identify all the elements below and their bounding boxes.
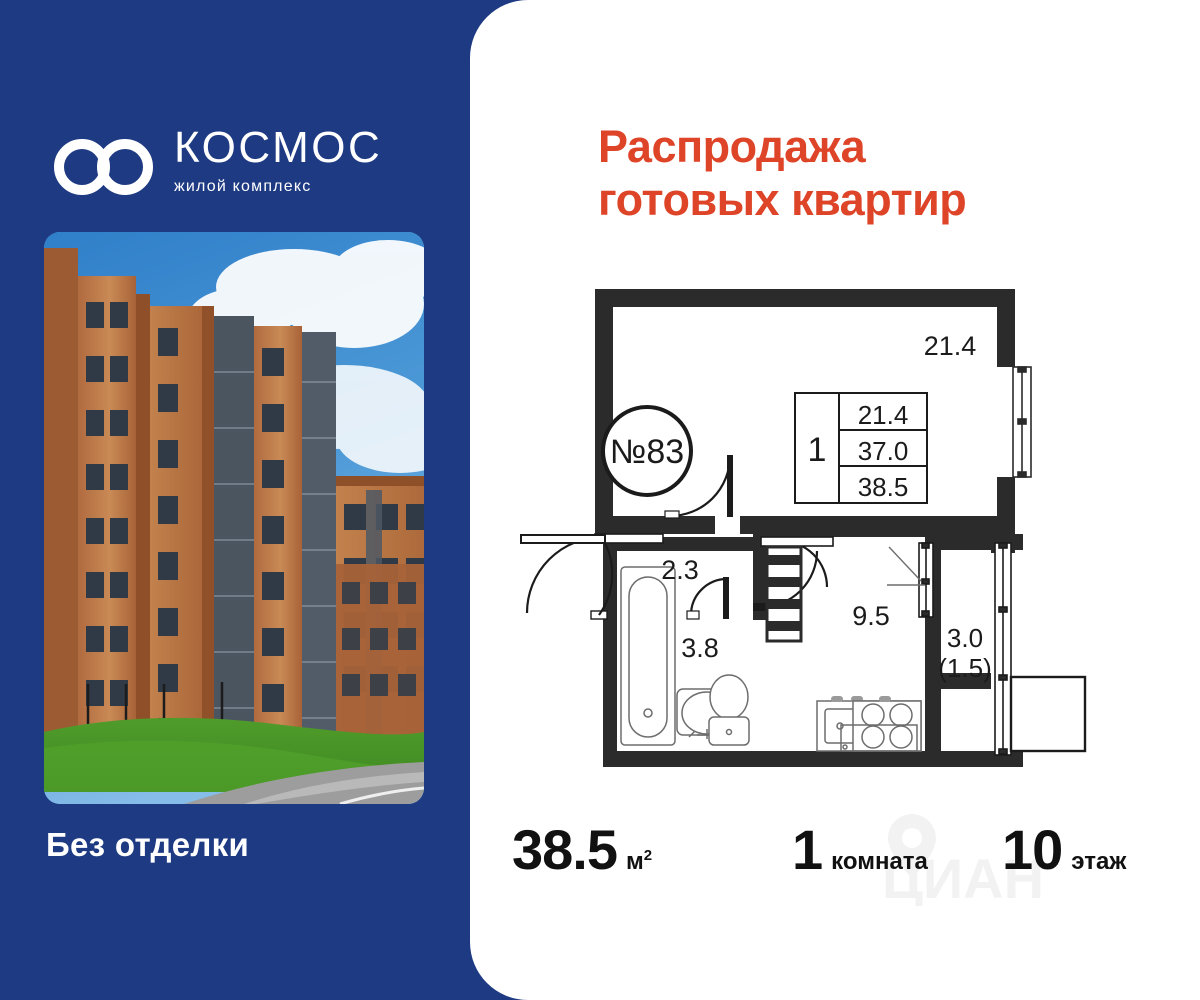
stat-rooms-value: 1 [792, 822, 822, 878]
building-photo [44, 232, 424, 804]
room-area-kitchen: 9.5 [852, 601, 890, 631]
stat-rooms: 1 комната [792, 822, 928, 878]
stat-area: 38.5 м2 [512, 822, 652, 878]
apartment-stats: 38.5 м2 1 комната 10 этаж [512, 808, 1192, 898]
brand-logo: КОСМОС жилой комплекс [52, 126, 382, 196]
info-living-area: 21.4 [858, 400, 909, 430]
page-title: Распродажа готовых квартир [598, 120, 1118, 226]
room-area-living: 21.4 [924, 331, 977, 361]
headline-line-2: готовых квартир [598, 173, 1118, 226]
floor-plan: 21.4 2.3 3.8 9.5 3.0 (1.5) №83 1 [495, 285, 1165, 775]
stat-floor-unit: этаж [1071, 850, 1126, 874]
stat-rooms-unit: комната [831, 850, 928, 874]
infinity-loop-icon [52, 138, 156, 196]
room-area-balcony: 3.0 [947, 623, 983, 653]
brand-tagline: жилой комплекс [174, 178, 311, 196]
apartment-number-badge: №83 [603, 407, 691, 495]
info-area-no-balcony: 37.0 [858, 436, 909, 466]
room-area-bathroom: 3.8 [681, 633, 719, 663]
svg-text:№83: №83 [610, 433, 684, 471]
stat-floor-value: 10 [1002, 822, 1062, 878]
stat-floor: 10 этаж [1002, 822, 1126, 878]
info-rooms: 1 [808, 431, 827, 469]
finish-label: Без отделки [46, 826, 426, 864]
room-area-balcony-counted: (1.5) [938, 653, 991, 683]
headline-line-1: Распродажа [598, 121, 865, 172]
stat-area-unit: м2 [626, 848, 652, 874]
brand-name: КОСМОС [174, 126, 382, 170]
room-area-hallway: 2.3 [661, 555, 699, 585]
poster-root: КОСМОС жилой комплекс [0, 0, 1200, 1000]
stat-area-value: 38.5 [512, 822, 617, 878]
info-area-total: 38.5 [858, 472, 909, 502]
